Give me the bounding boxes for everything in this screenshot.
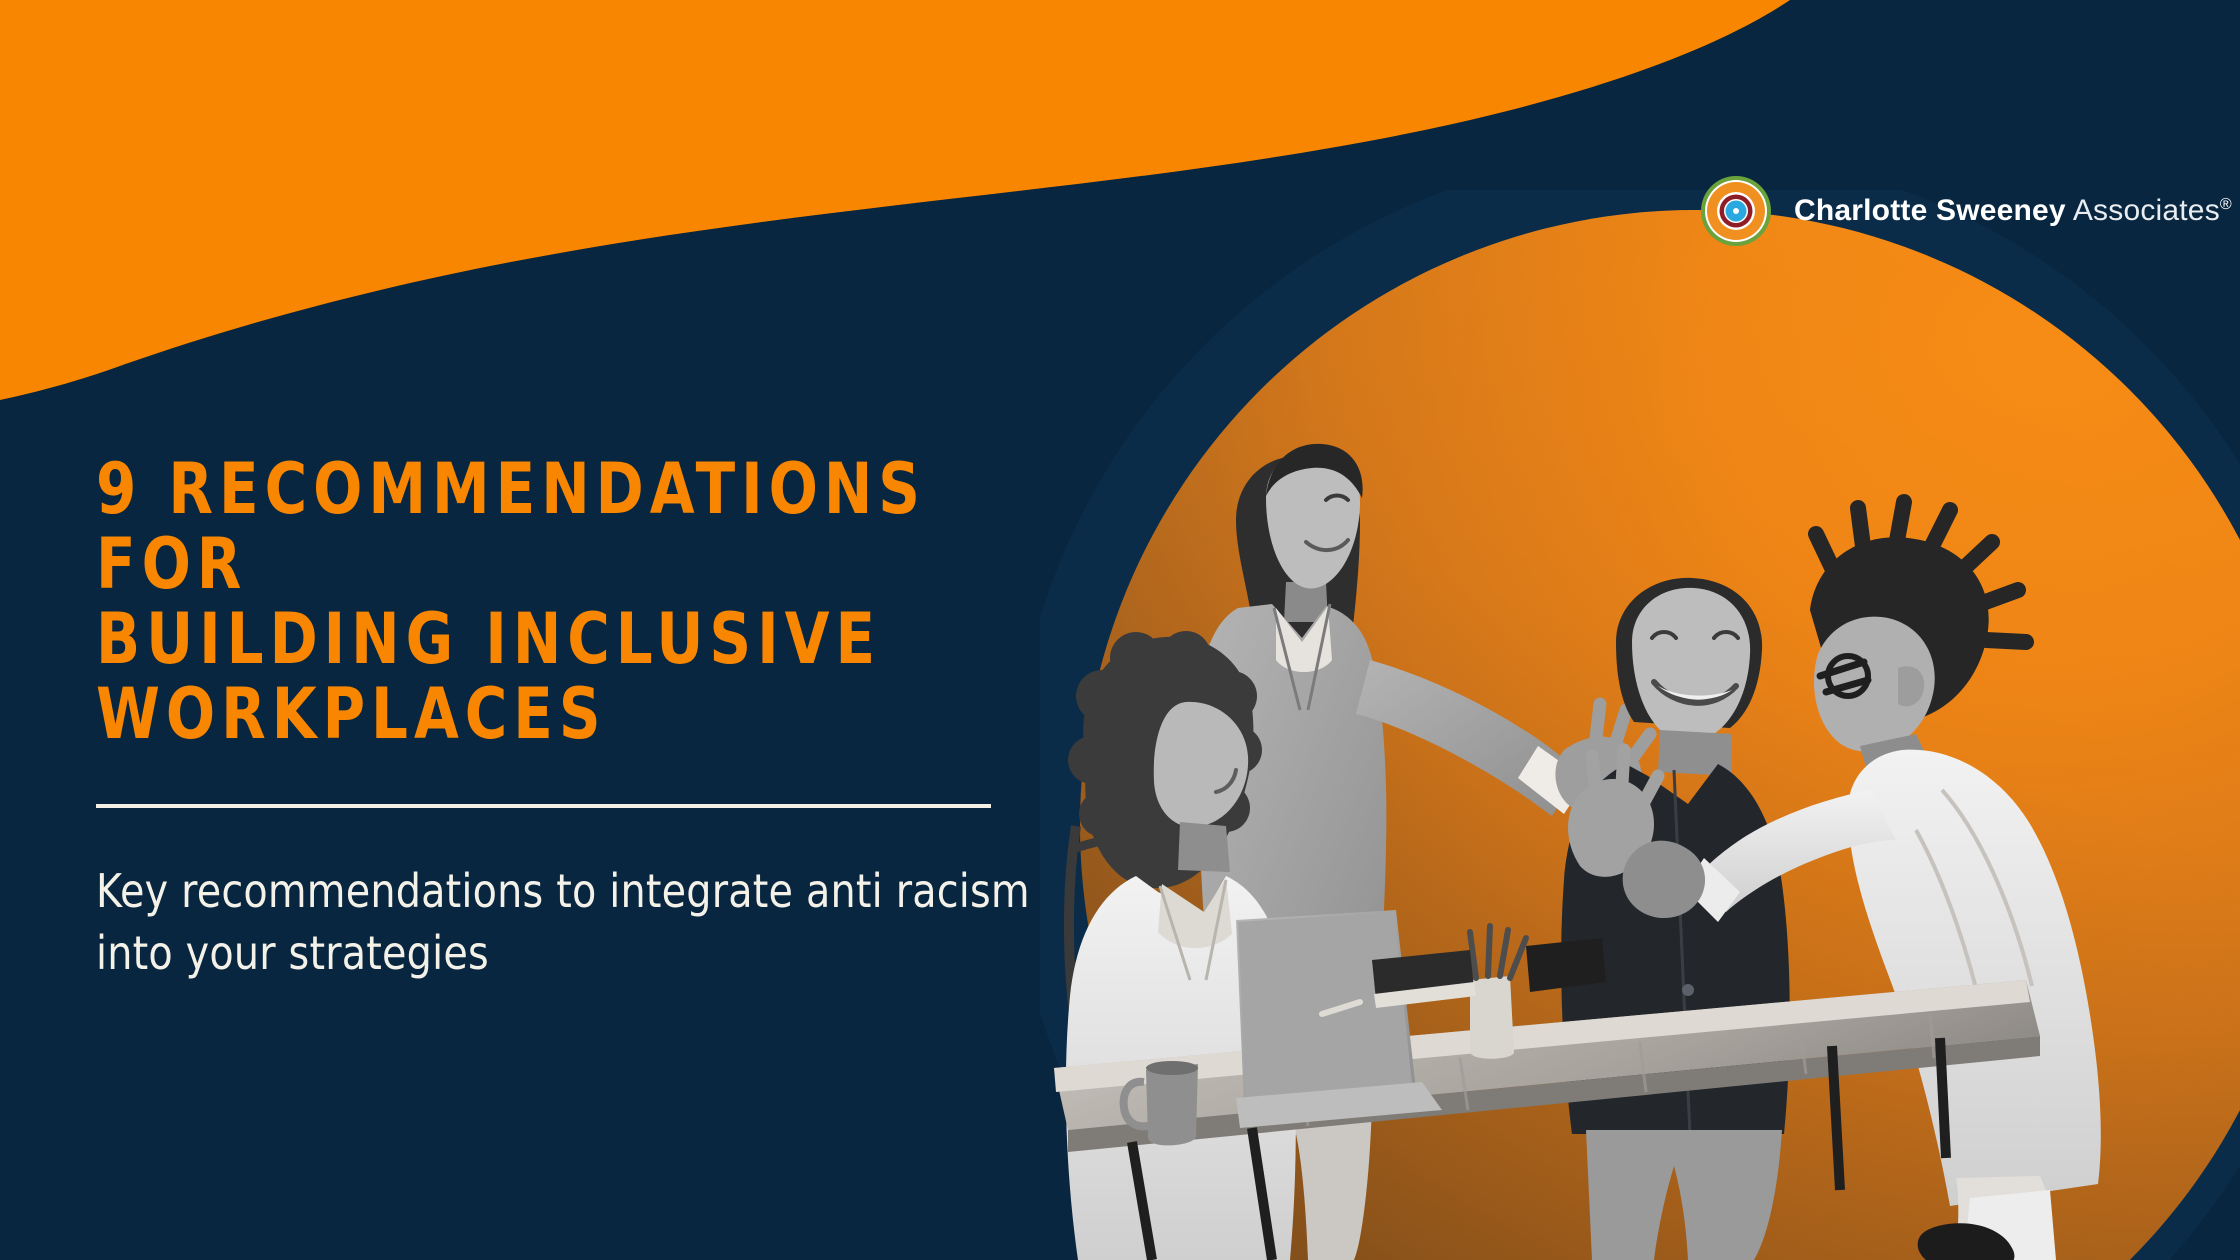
registered-trademark-icon: ® <box>2220 196 2232 213</box>
concentric-target-logo-icon <box>1700 175 1772 247</box>
notebook <box>1372 950 1476 1008</box>
photo-stage <box>1040 190 2240 1260</box>
laptop <box>1236 910 1442 1128</box>
title-slide: 9 RECOMMENDATIONS FOR BUILDING INCLUSIVE… <box>0 0 2240 1260</box>
team-high-five-photo <box>1040 190 2240 1260</box>
subtitle: Key recommendations to integrate anti ra… <box>96 860 1056 984</box>
headline-block: 9 RECOMMENDATIONS FOR BUILDING INCLUSIVE… <box>96 452 1096 984</box>
page-title: 9 RECOMMENDATIONS FOR BUILDING INCLUSIVE… <box>96 452 1016 752</box>
title-divider <box>96 804 991 808</box>
brand-logo: Charlotte SweeneyAssociates® <box>1700 175 2232 247</box>
brand-associates: Associates <box>2073 194 2220 227</box>
brand-name: Charlotte Sweeney <box>1794 194 2066 227</box>
brand-logo-text: Charlotte SweeneyAssociates® <box>1794 194 2232 228</box>
person-seated-man <box>1561 578 1790 1260</box>
